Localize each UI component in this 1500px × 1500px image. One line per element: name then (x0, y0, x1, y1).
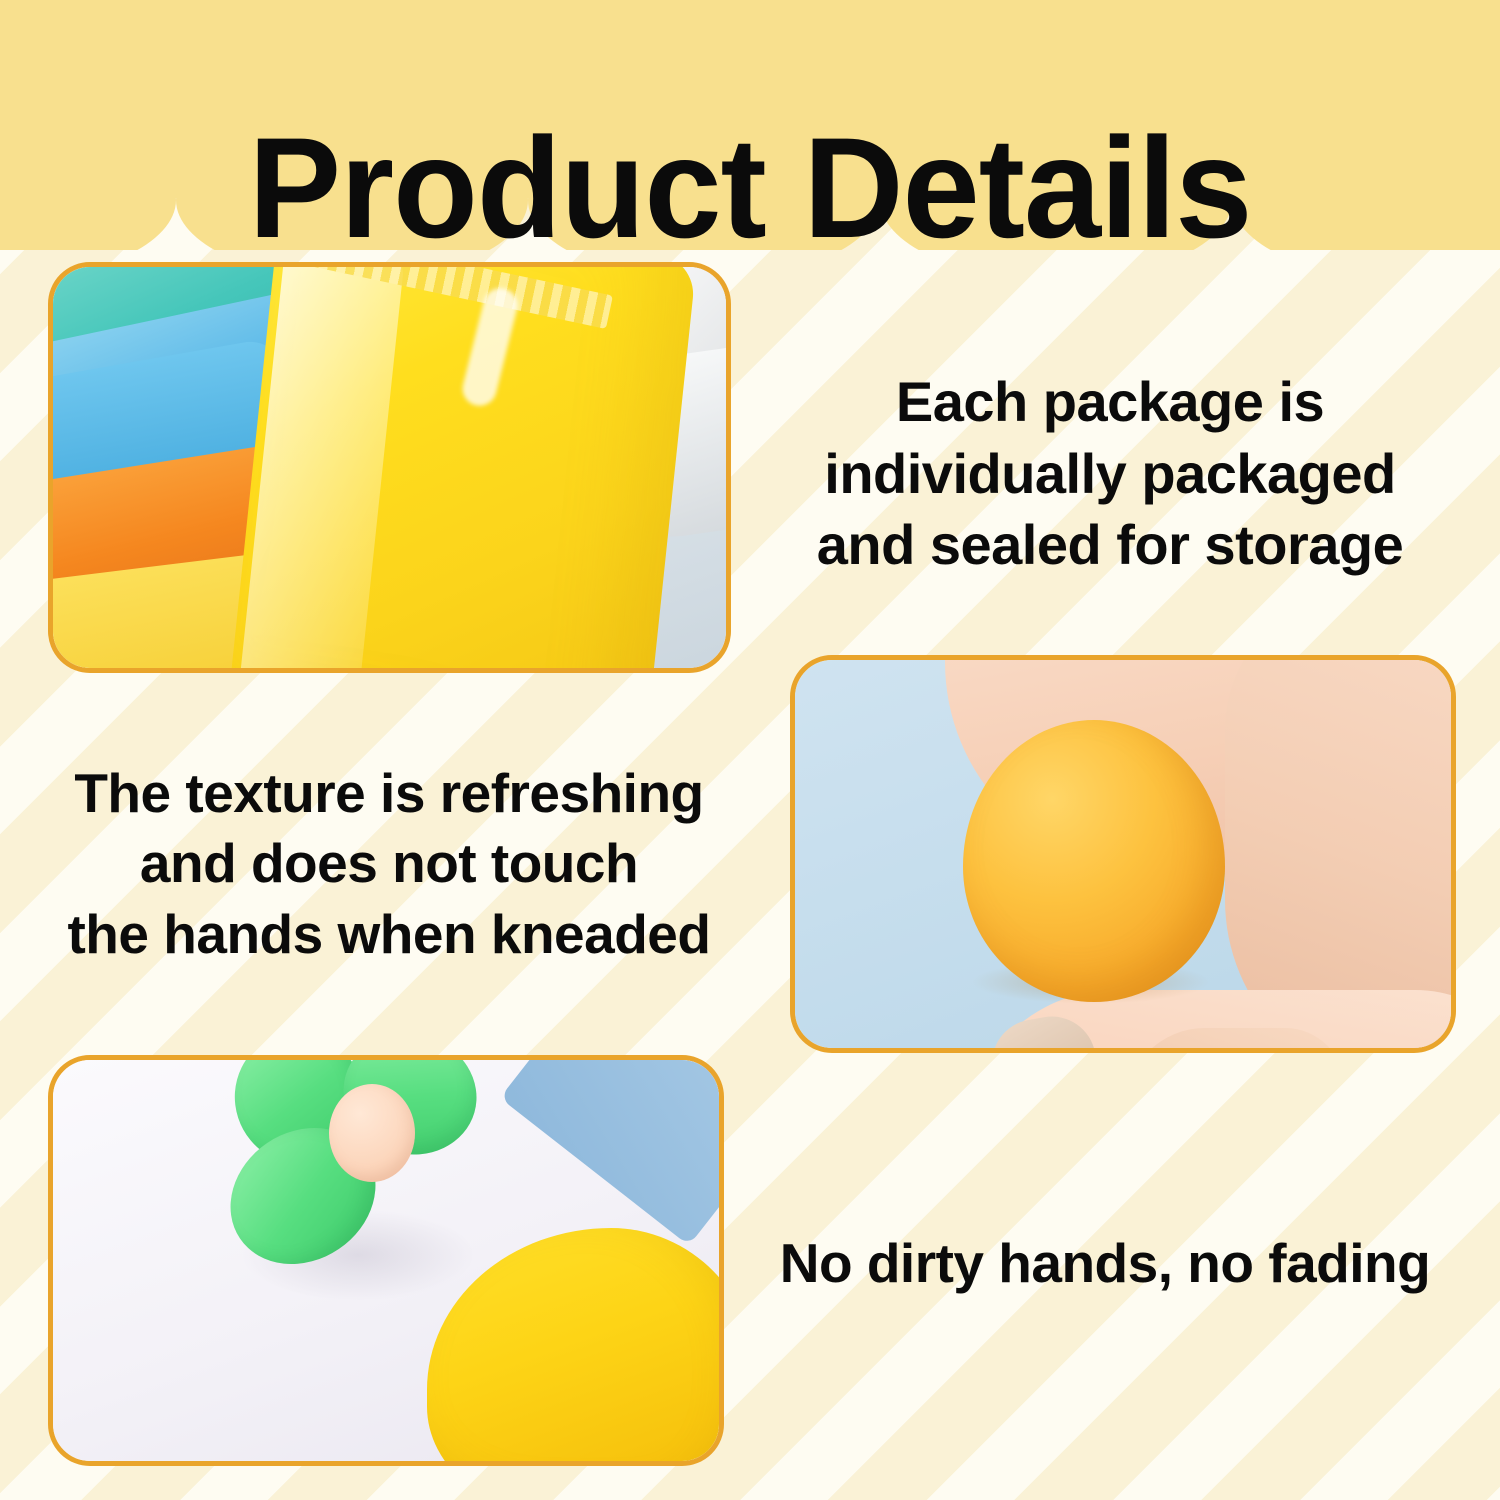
caption-no-dirty-hands: No dirty hands, no fading (740, 1228, 1470, 1298)
photo-packaged-clay (48, 262, 731, 673)
photo-hand-squeezing-ball-image (795, 660, 1451, 1048)
yellow-clay-ball (963, 720, 1225, 1002)
photo-hand-squeezing-ball (790, 655, 1456, 1053)
photo-clay-shapes-image (53, 1060, 719, 1461)
photo-packaged-clay-image (53, 267, 726, 668)
flower-center (329, 1084, 415, 1182)
page-title: Product Details (23, 114, 1478, 264)
photo-clay-shapes (48, 1055, 724, 1466)
caption-packaging: Each package is individually packaged an… (760, 366, 1460, 581)
caption-texture: The texture is refreshing and does not t… (24, 758, 754, 969)
